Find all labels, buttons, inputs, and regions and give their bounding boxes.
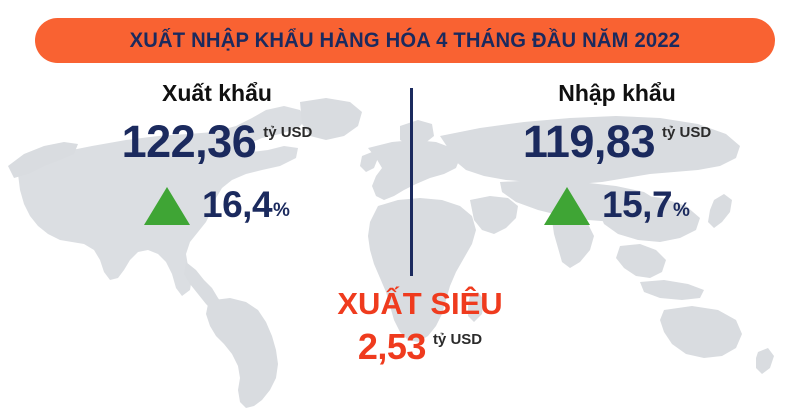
export-change-value: 16,4 (202, 186, 272, 223)
import-value-row: 119,83 tỷ USD (452, 121, 782, 164)
import-unit: tỷ USD (662, 125, 711, 140)
import-heading: Nhập khẩu (452, 82, 782, 105)
center-divider (410, 88, 413, 276)
export-heading: Xuất khẩu (52, 82, 382, 105)
page-title: XUẤT NHẬP KHẨU HÀNG HÓA 4 THÁNG ĐẦU NĂM … (130, 28, 681, 53)
import-change-row: 15,7 % (452, 184, 782, 225)
title-banner: XUẤT NHẬP KHẨU HÀNG HÓA 4 THÁNG ĐẦU NĂM … (35, 18, 775, 63)
export-value-row: 122,36 tỷ USD (52, 121, 382, 164)
import-change-sign: % (673, 201, 690, 220)
export-unit: tỷ USD (263, 125, 312, 140)
surplus-heading: XUẤT SIÊU (280, 288, 560, 319)
export-change-sign: % (273, 201, 290, 220)
import-stat-block: Nhập khẩu 119,83 tỷ USD 15,7 % (452, 82, 782, 225)
infographic-canvas: XUẤT NHẬP KHẨU HÀNG HÓA 4 THÁNG ĐẦU NĂM … (0, 0, 800, 409)
triangle-up-icon (144, 187, 190, 225)
surplus-value-row: 2,53 tỷ USD (280, 329, 560, 365)
export-value: 122,36 (122, 121, 257, 164)
import-change-value: 15,7 (602, 186, 672, 223)
import-value: 119,83 (523, 121, 655, 164)
triangle-up-icon (544, 187, 590, 225)
surplus-unit: tỷ USD (433, 332, 482, 347)
trade-surplus-block: XUẤT SIÊU 2,53 tỷ USD (280, 288, 560, 365)
export-stat-block: Xuất khẩu 122,36 tỷ USD 16,4 % (52, 82, 382, 225)
surplus-value: 2,53 (358, 329, 426, 365)
export-change-row: 16,4 % (52, 184, 382, 225)
